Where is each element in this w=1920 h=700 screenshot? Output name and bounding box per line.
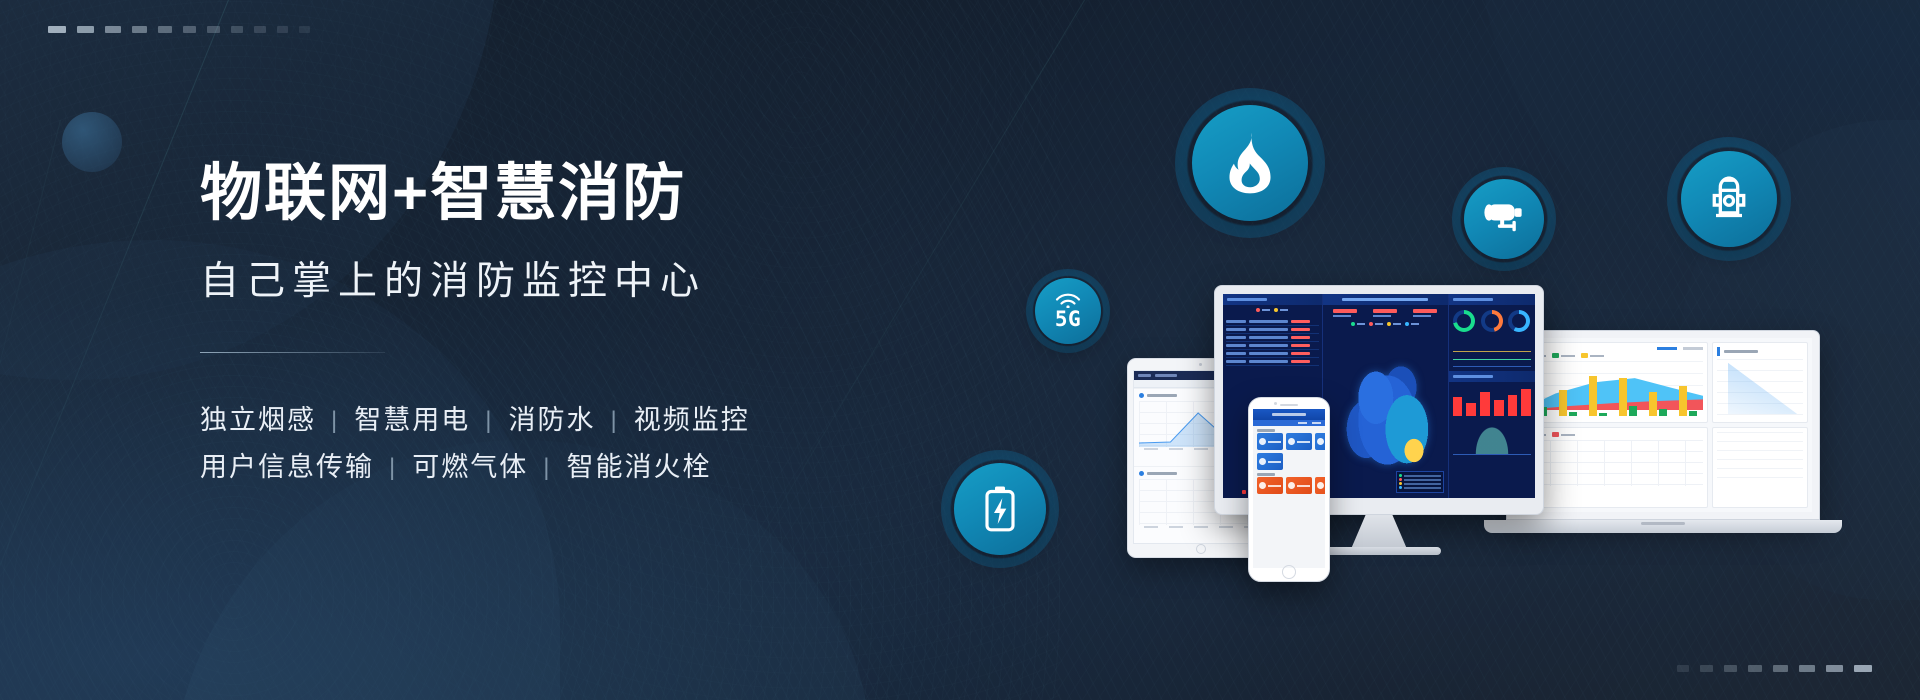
fire-hydrant-icon-bubble[interactable] <box>1667 137 1791 261</box>
dash-marks-top-left <box>48 26 310 33</box>
bar-line-combo-chart <box>1523 361 1703 418</box>
feature-item: 智能消火栓 <box>566 444 711 491</box>
gauge-chart <box>1481 310 1503 332</box>
triangle-chart-card <box>1712 342 1808 423</box>
dashboard-title-bar <box>1323 294 1448 305</box>
feature-row-1: 独立烟感 | 智慧用电 | 消防水 | 视频监控 <box>200 397 960 444</box>
line-chart-panel <box>1449 337 1535 371</box>
phone-tile[interactable] <box>1286 477 1312 494</box>
decorative-circle <box>62 112 122 172</box>
table-row <box>1226 334 1319 342</box>
phone-speaker <box>1280 404 1298 406</box>
panel-legend <box>1223 305 1322 315</box>
panel-header <box>1449 294 1535 305</box>
area-chart <box>1453 425 1531 455</box>
phone-screen <box>1253 409 1325 568</box>
battery-bolt-icon <box>981 484 1019 534</box>
line-chart <box>1453 341 1531 367</box>
smartphone-device <box>1248 397 1330 582</box>
panel-header <box>1449 371 1535 382</box>
feature-item: 消防水 <box>508 397 595 444</box>
table-row <box>1226 342 1319 350</box>
chart-axis <box>1139 525 1263 529</box>
flame-icon <box>1222 132 1278 194</box>
table-row <box>1226 358 1319 366</box>
map-tooltip-table <box>1396 471 1443 493</box>
dash-marks-bottom-right <box>1677 665 1872 672</box>
dashboard-center-column <box>1323 294 1448 498</box>
5g-glyph: 5G <box>1054 293 1082 330</box>
feature-separator: | <box>470 400 508 442</box>
bar-chart-panel <box>1449 382 1535 421</box>
hero-banner: 物联网+智慧消防 自己掌上的消防监控中心 独立烟感 | 智慧用电 | 消防水 |… <box>0 0 1920 700</box>
kpi-item <box>1373 309 1397 317</box>
device-mockup-cluster <box>1120 285 1880 575</box>
phone-tile[interactable] <box>1257 453 1283 470</box>
bar-chart <box>1453 386 1531 416</box>
5g-label: 5G <box>1054 309 1082 330</box>
map-legend <box>1323 319 1448 329</box>
gauge-chart <box>1453 310 1475 332</box>
feature-item: 视频监控 <box>634 397 750 444</box>
cctv-camera-icon-bubble[interactable] <box>1452 167 1556 271</box>
feature-item: 智慧用电 <box>354 397 470 444</box>
diagonal-line <box>0 120 61 700</box>
kpi-item <box>1333 309 1357 317</box>
panel-header <box>1223 294 1322 305</box>
chart-legend <box>1523 432 1703 437</box>
gauge-chart <box>1508 310 1530 332</box>
card-tabs[interactable] <box>1523 347 1703 350</box>
cctv-camera-icon <box>1481 199 1527 239</box>
feature-item: 可燃气体 <box>412 444 528 491</box>
kpi-item <box>1413 309 1437 317</box>
side-grid-chart <box>1717 432 1803 478</box>
feature-row-2: 用户信息传输 | 可燃气体 | 智能消火栓 <box>200 444 960 491</box>
feature-separator: | <box>595 400 633 442</box>
phone-section-label-2 <box>1253 470 1325 477</box>
kpi-stats <box>1323 305 1448 319</box>
feature-separator: | <box>316 400 354 442</box>
page-title: 物联网+智慧消防 <box>200 160 960 228</box>
feature-item: 独立烟感 <box>200 397 316 444</box>
phone-tile-grid-orange <box>1253 477 1325 494</box>
phone-camera <box>1274 402 1277 405</box>
phone-tile[interactable] <box>1257 477 1283 494</box>
hero-copy: 物联网+智慧消防 自己掌上的消防监控中心 独立烟感 | 智慧用电 | 消防水 |… <box>200 160 960 492</box>
feature-list: 独立烟感 | 智慧用电 | 消防水 | 视频监控 用户信息传输 | 可燃气体 |… <box>200 397 960 492</box>
phone-tile[interactable] <box>1286 433 1312 450</box>
page-subtitle: 自己掌上的消防监控中心 <box>200 250 960 306</box>
tablet-home-button[interactable] <box>1196 544 1206 554</box>
laptop-chart-row-bottom <box>1518 427 1808 508</box>
dashboard-right-column <box>1448 294 1535 498</box>
area-chart-panel <box>1449 421 1535 459</box>
laptop-lid <box>1506 330 1820 520</box>
flame-icon-bubble[interactable] <box>1175 88 1325 238</box>
feature-separator: | <box>528 447 566 489</box>
phone-tile[interactable] <box>1315 433 1325 450</box>
fire-hydrant-icon <box>1706 173 1752 225</box>
feature-item: 用户信息传输 <box>200 444 374 491</box>
chart-legend <box>1523 353 1703 358</box>
gauge-group <box>1449 305 1535 337</box>
wifi-wave-icon <box>1054 293 1082 308</box>
side-chart-card <box>1712 427 1808 508</box>
mixed-chart-card <box>1518 342 1708 423</box>
laptop-screen <box>1514 338 1812 512</box>
table-row <box>1226 350 1319 358</box>
phone-tile[interactable] <box>1257 433 1283 450</box>
monitor-stand <box>1351 515 1407 549</box>
phone-title-bar <box>1253 409 1325 420</box>
feature-separator: | <box>374 447 412 489</box>
map-highlight-region <box>1403 437 1425 464</box>
laptop-deck <box>1484 520 1842 533</box>
phone-section-label-1 <box>1253 426 1325 433</box>
divider-rule <box>200 352 385 353</box>
monitor-base <box>1317 547 1441 555</box>
laptop-chart-row-top <box>1518 342 1808 423</box>
battery-bolt-icon-bubble[interactable] <box>941 450 1059 568</box>
descending-area-chart <box>1717 359 1803 418</box>
table-row <box>1226 318 1319 326</box>
laptop-device <box>1506 330 1820 520</box>
china-map-chart <box>1323 329 1448 498</box>
tablet-camera <box>1199 363 1202 366</box>
phone-tile-grid-blue <box>1253 433 1325 470</box>
phone-tile[interactable] <box>1315 477 1325 494</box>
grid-chart-card <box>1518 427 1708 508</box>
empty-grid-chart <box>1523 440 1703 486</box>
phone-home-button[interactable] <box>1282 565 1296 579</box>
5g-signal-icon-bubble[interactable]: 5G <box>1026 269 1110 353</box>
table-row <box>1226 326 1319 334</box>
